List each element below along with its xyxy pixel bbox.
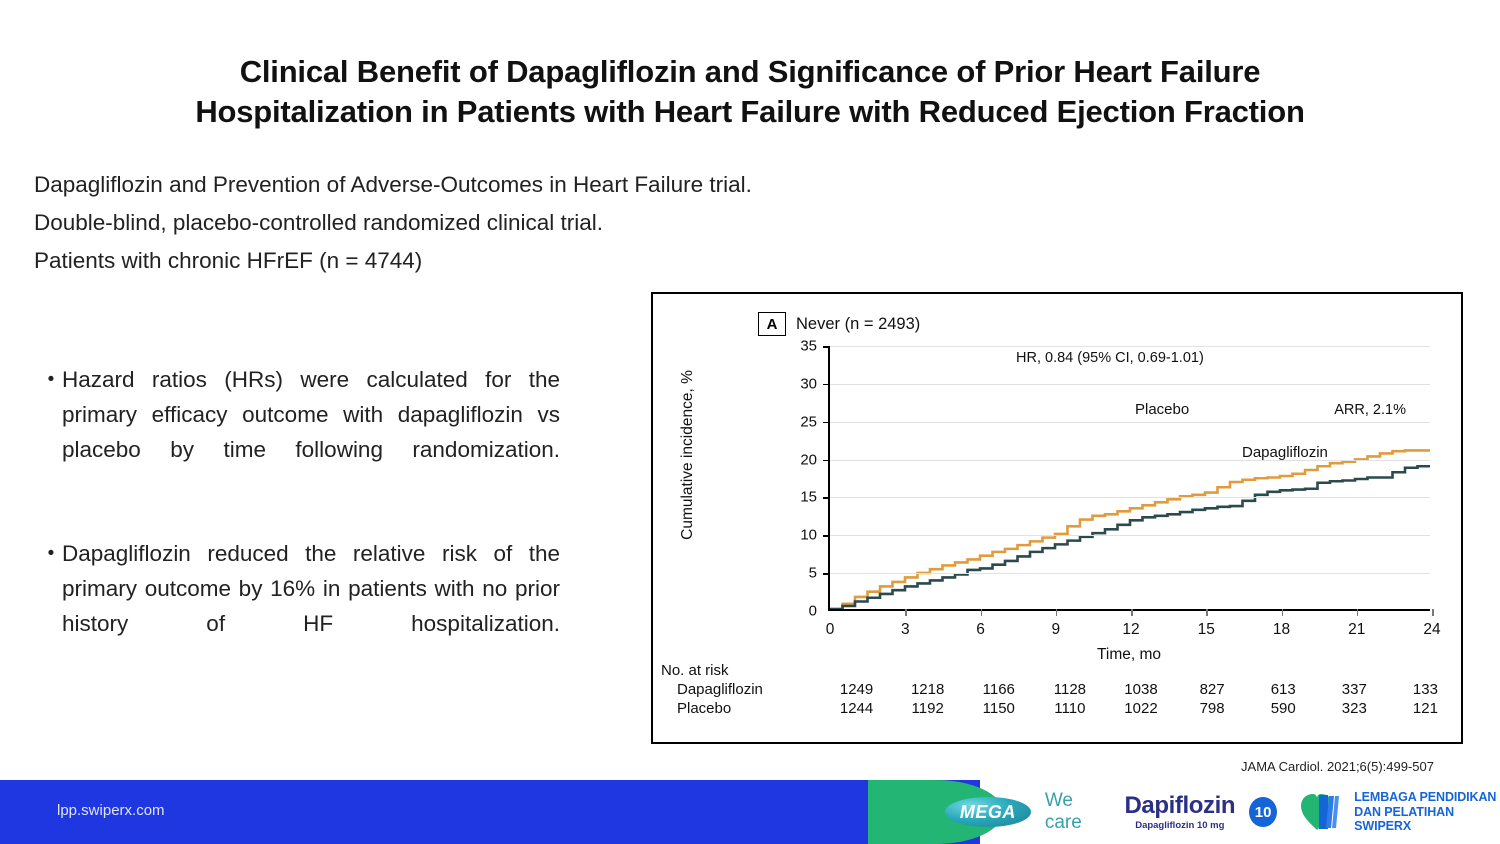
lpp-org-line-1: LEMBAGA PENDIDIKAN: [1354, 790, 1500, 804]
bullet-marker-icon: •: [40, 536, 62, 676]
gridline: [830, 422, 1430, 423]
arr-annotation: ARR, 2.1%: [1334, 402, 1406, 418]
gridline: [830, 497, 1430, 498]
gridline: [830, 460, 1430, 461]
lpp-org-line-2: DAN PELATIHAN SWIPERX: [1354, 805, 1500, 834]
subtitle-line-2: Double-blind, placebo-controlled randomi…: [34, 204, 994, 242]
curve-dapagliflozin: [830, 466, 1430, 609]
footer-bar: lpp.swiperx.com MEGA We care Dapiflozin …: [0, 780, 1500, 844]
risk-row-values: 12441192115011101022798590323121: [821, 700, 1461, 717]
strength-badge: 10: [1249, 797, 1277, 827]
footer-url[interactable]: lpp.swiperx.com: [57, 802, 165, 819]
series-label-placebo: Placebo: [1135, 401, 1189, 418]
y-tick-mark: [823, 497, 830, 499]
x-tick-mark: [1206, 609, 1208, 616]
x-tick-label: 18: [1262, 621, 1302, 639]
y-tick-label: 5: [783, 565, 817, 582]
y-axis-label: Cumulative incidence, %: [679, 330, 697, 580]
y-tick-label: 20: [783, 451, 817, 468]
y-tick-label: 30: [783, 375, 817, 392]
list-item: • Hazard ratios (HRs) were calculated fo…: [40, 362, 560, 502]
x-tick-mark: [1432, 609, 1434, 616]
y-tick-mark: [823, 460, 830, 462]
page-title-line-2: Hospitalization in Patients with Heart F…: [60, 92, 1440, 132]
subtitle-block: Dapagliflozin and Prevention of Adverse-…: [34, 166, 994, 280]
x-tick-label: 9: [1036, 621, 1076, 639]
risk-cell: 1110: [1034, 700, 1105, 717]
x-tick-mark: [905, 609, 907, 616]
series-label-dapagliflozin: Dapagliflozin: [1242, 444, 1328, 461]
gridline: [830, 346, 1430, 347]
risk-cell: 1192: [892, 700, 963, 717]
risk-cell: 1166: [963, 681, 1034, 698]
risk-cell: 1038: [1105, 681, 1176, 698]
panel-title: Never (n = 2493): [796, 315, 920, 334]
risk-cell: 613: [1248, 681, 1319, 698]
risk-cell: 1128: [1034, 681, 1105, 698]
risk-cell: 133: [1390, 681, 1461, 698]
lpp-logo: LEMBAGA PENDIDIKAN DAN PELATIHAN SWIPERX: [1301, 790, 1500, 833]
dapiflozin-brand-name: Dapiflozin: [1124, 794, 1235, 818]
risk-cell: 1244: [821, 700, 892, 717]
dapiflozin-brand-logo: Dapiflozin Dapagliflozin 10 mg: [1124, 794, 1235, 831]
table-row: Dapagliflozin 12491218116611281038827613…: [661, 681, 1461, 698]
x-tick-mark: [1056, 609, 1058, 616]
table-row: Placebo 12441192115011101022798590323121: [661, 700, 1461, 717]
risk-cell: 121: [1390, 700, 1461, 717]
bullet-marker-icon: •: [40, 362, 62, 502]
y-tick-label: 0: [783, 603, 817, 620]
y-tick-mark: [823, 422, 830, 424]
y-tick-label: 15: [783, 489, 817, 506]
x-tick-label: 21: [1337, 621, 1377, 639]
bullet-text: Dapagliflozin reduced the relative risk …: [62, 536, 560, 676]
x-tick-label: 6: [961, 621, 1001, 639]
y-tick-mark: [823, 384, 830, 386]
citation: JAMA Cardiol. 2021;6(5):499-507: [1241, 759, 1434, 774]
hazard-ratio-annotation: HR, 0.84 (95% CI, 0.69-1.01): [1016, 350, 1204, 366]
mega-logo: MEGA: [945, 797, 1031, 827]
gridline: [830, 535, 1430, 536]
dapiflozin-generic-name: Dapagliflozin 10 mg: [1135, 821, 1224, 831]
y-tick-mark: [823, 573, 830, 575]
x-tick-label: 24: [1412, 621, 1452, 639]
risk-row-label: Dapagliflozin: [661, 681, 821, 698]
gridline: [830, 384, 1430, 385]
subtitle-line-3: Patients with chronic HFrEF (n = 4744): [34, 242, 994, 280]
risk-cell: 337: [1319, 681, 1390, 698]
x-tick-label: 0: [810, 621, 850, 639]
lpp-org-name: LEMBAGA PENDIDIKAN DAN PELATIHAN SWIPERX: [1354, 790, 1500, 833]
bullet-list: • Hazard ratios (HRs) were calculated fo…: [40, 362, 560, 710]
subtitle-line-1: Dapagliflozin and Prevention of Adverse-…: [34, 166, 994, 204]
risk-cell: 798: [1177, 700, 1248, 717]
x-tick-mark: [981, 609, 983, 616]
page-title: Clinical Benefit of Dapagliflozin and Si…: [60, 52, 1440, 131]
y-tick-mark: [823, 535, 830, 537]
risk-cell: 1022: [1105, 700, 1176, 717]
kaplan-meier-figure: A Never (n = 2493) Cumulative incidence,…: [651, 292, 1463, 744]
we-care-tagline: We care: [1045, 790, 1111, 834]
risk-cell: 1249: [821, 681, 892, 698]
risk-cell: 590: [1248, 700, 1319, 717]
x-tick-label: 12: [1111, 621, 1151, 639]
y-tick-mark: [823, 346, 830, 348]
risk-cell: 1218: [892, 681, 963, 698]
curve-placebo: [830, 450, 1430, 609]
y-tick-label: 35: [783, 338, 817, 355]
lpp-heart-book-icon: [1301, 792, 1347, 832]
x-tick-label: 15: [1186, 621, 1226, 639]
plot-area: HR, 0.84 (95% CI, 0.69-1.01) ARR, 2.1% P…: [828, 346, 1430, 611]
x-tick-mark: [1282, 609, 1284, 616]
y-tick-label: 10: [783, 527, 817, 544]
risk-cell: 827: [1177, 681, 1248, 698]
risk-table-header: No. at risk: [661, 662, 1461, 679]
y-tick-label: 25: [783, 413, 817, 430]
gridline: [830, 573, 1430, 574]
risk-row-values: 12491218116611281038827613337133: [821, 681, 1461, 698]
panel-letter-badge: A: [758, 312, 786, 336]
x-tick-mark: [1131, 609, 1133, 616]
curve-layer: [830, 346, 1430, 609]
risk-cell: 323: [1319, 700, 1390, 717]
risk-cell: 1150: [963, 700, 1034, 717]
x-tick-mark: [1357, 609, 1359, 616]
risk-table: No. at risk Dapagliflozin 12491218116611…: [661, 662, 1461, 719]
plot-area-wrapper: Cumulative incidence, % 05101520253035 H…: [653, 346, 1465, 631]
page-title-line-1: Clinical Benefit of Dapagliflozin and Si…: [60, 52, 1440, 92]
bullet-text: Hazard ratios (HRs) were calculated for …: [62, 362, 560, 502]
risk-row-label: Placebo: [661, 700, 821, 717]
footer-logos: MEGA We care Dapiflozin Dapagliflozin 10…: [945, 780, 1500, 844]
y-axis-ticks: 05101520253035: [783, 346, 817, 611]
list-item: • Dapagliflozin reduced the relative ris…: [40, 536, 560, 676]
panel-header: A Never (n = 2493): [758, 312, 920, 336]
x-tick-label: 3: [885, 621, 925, 639]
